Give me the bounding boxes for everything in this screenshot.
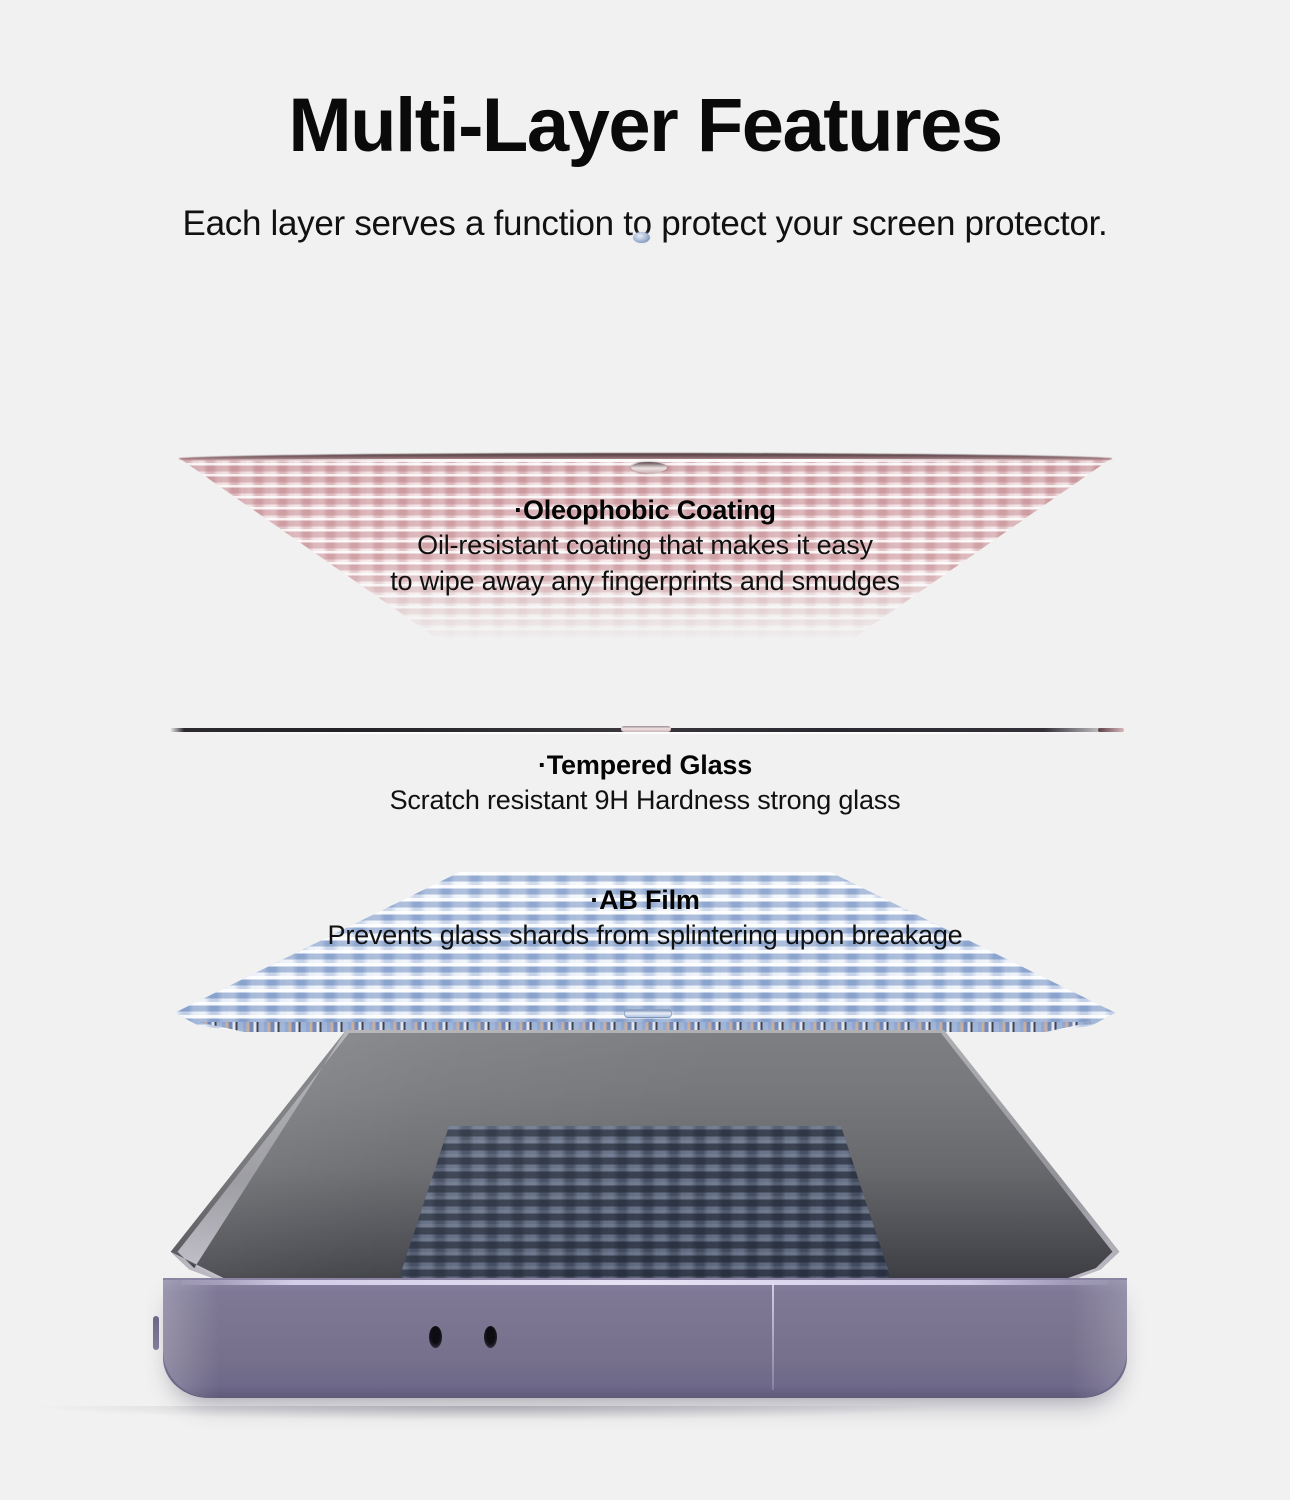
tempered-glass-layer <box>170 720 1120 742</box>
oleophobic-coating-layer <box>150 452 1140 642</box>
tempered-glass-highlight <box>180 732 1111 734</box>
camera-cutout-icon <box>631 462 667 473</box>
phone-screen-texture-panel <box>400 1126 890 1282</box>
header: Multi-Layer Features Each layer serves a… <box>0 0 1290 241</box>
phone-speaker-hole-icon <box>484 1326 497 1348</box>
tempered-glass-title: ·Tempered Glass <box>0 750 1290 782</box>
tempered-glass-right-tip <box>1098 728 1124 732</box>
phone-frame-highlight <box>181 1280 1109 1285</box>
phone-microphone-hole-icon <box>429 1326 442 1348</box>
ab-film-sheet-texture <box>170 872 1120 1032</box>
tempered-glass-camera-notch <box>621 726 670 732</box>
tempered-glass-label: ·Tempered Glass Scratch resistant 9H Har… <box>0 750 1290 818</box>
infographic-page: Multi-Layer Features Each layer serves a… <box>0 0 1290 1500</box>
phone-antenna-line <box>772 1282 774 1390</box>
ab-film-camera-notch <box>624 1009 672 1018</box>
tempered-glass-bullet-icon: · <box>538 750 547 780</box>
tempered-glass-description-line-1: Scratch resistant 9H Hardness strong gla… <box>0 782 1290 818</box>
ab-film-layer <box>170 872 1120 1032</box>
smartphone-device <box>155 1030 1135 1420</box>
phone-side-button <box>153 1316 159 1350</box>
page-title: Multi-Layer Features <box>0 88 1290 164</box>
phone-screen-sensor-icon <box>633 232 650 243</box>
phone-bottom-frame <box>163 1278 1127 1398</box>
tempered-glass-name: Tempered Glass <box>547 750 752 780</box>
oleophobic-sheet-texture <box>150 452 1140 642</box>
